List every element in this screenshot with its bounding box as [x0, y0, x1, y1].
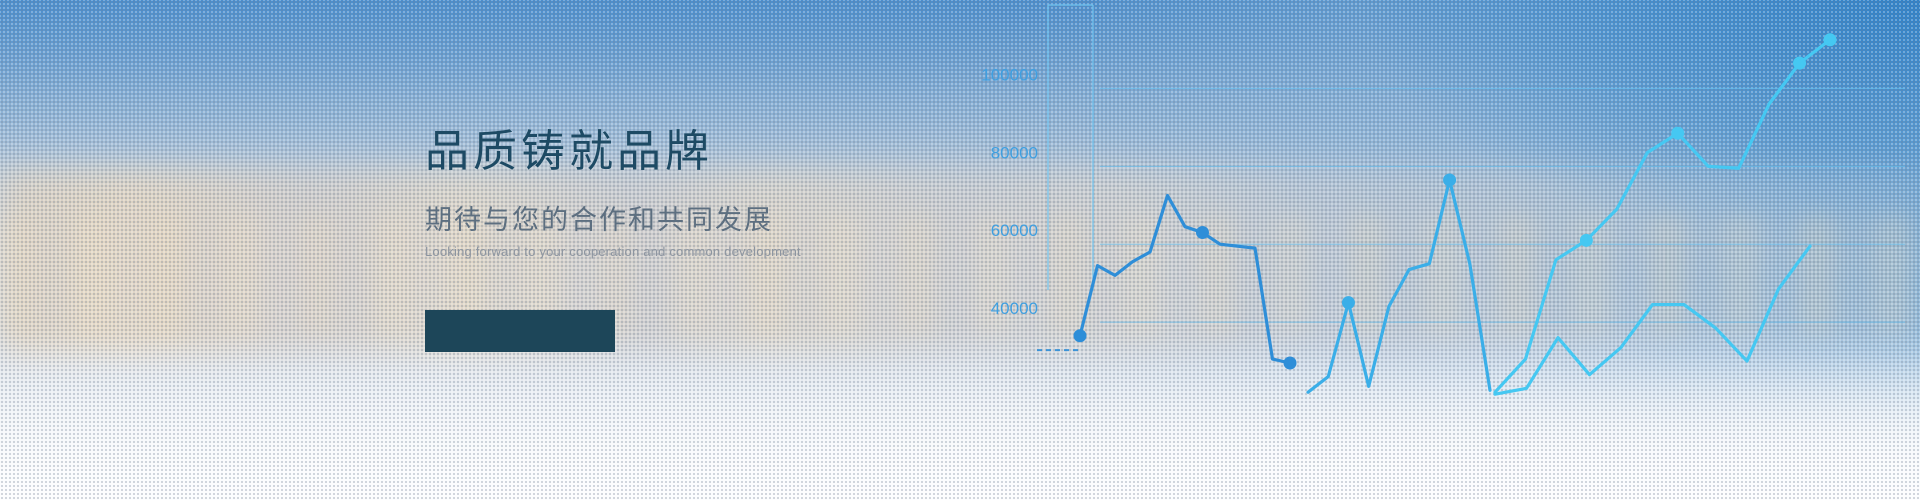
- chart-data-point: [1824, 33, 1837, 46]
- line-chart: 400006000080000100000: [930, 0, 1920, 500]
- chart-axis: [1048, 5, 1093, 290]
- hero-tagline-english: Looking forward to your cooperation and …: [425, 244, 895, 260]
- hero-banner: 品质铸就品牌 期待与您的合作和共同发展 Looking forward to y…: [0, 0, 1920, 500]
- chart-data-point: [1284, 357, 1297, 370]
- chart-series-layer: [1074, 33, 1837, 394]
- chart-line-series-4: [1495, 246, 1810, 394]
- chart-data-point: [1671, 127, 1684, 140]
- page-title: 品质铸就品牌: [425, 128, 895, 176]
- cta-button[interactable]: [425, 310, 615, 352]
- chart-data-point: [1196, 226, 1209, 239]
- chart-gridlines: [1037, 88, 1905, 350]
- chart-data-point: [1580, 234, 1593, 247]
- chart-data-point: [1443, 173, 1456, 186]
- y-axis-tick-label: 80000: [991, 143, 1038, 162]
- chart-line-series-3: [1495, 40, 1830, 392]
- line-chart-svg: 400006000080000100000: [930, 0, 1920, 500]
- chart-data-point: [1342, 296, 1355, 309]
- hero-copy: 品质铸就品牌 期待与您的合作和共同发展 Looking forward to y…: [425, 128, 895, 260]
- cta-button-label: [425, 310, 615, 352]
- y-axis-tick-label: 40000: [991, 299, 1038, 318]
- chart-data-point: [1793, 57, 1806, 70]
- hero-subtitle: 期待与您的合作和共同发展: [425, 206, 895, 236]
- y-axis-tick-label: 100000: [981, 65, 1038, 84]
- chart-data-point: [1074, 329, 1087, 342]
- chart-line-series-1: [1080, 196, 1290, 363]
- chart-line-series-2: [1308, 180, 1490, 392]
- y-axis-tick-label: 60000: [991, 221, 1038, 240]
- chart-y-axis-labels: 400006000080000100000: [981, 65, 1038, 318]
